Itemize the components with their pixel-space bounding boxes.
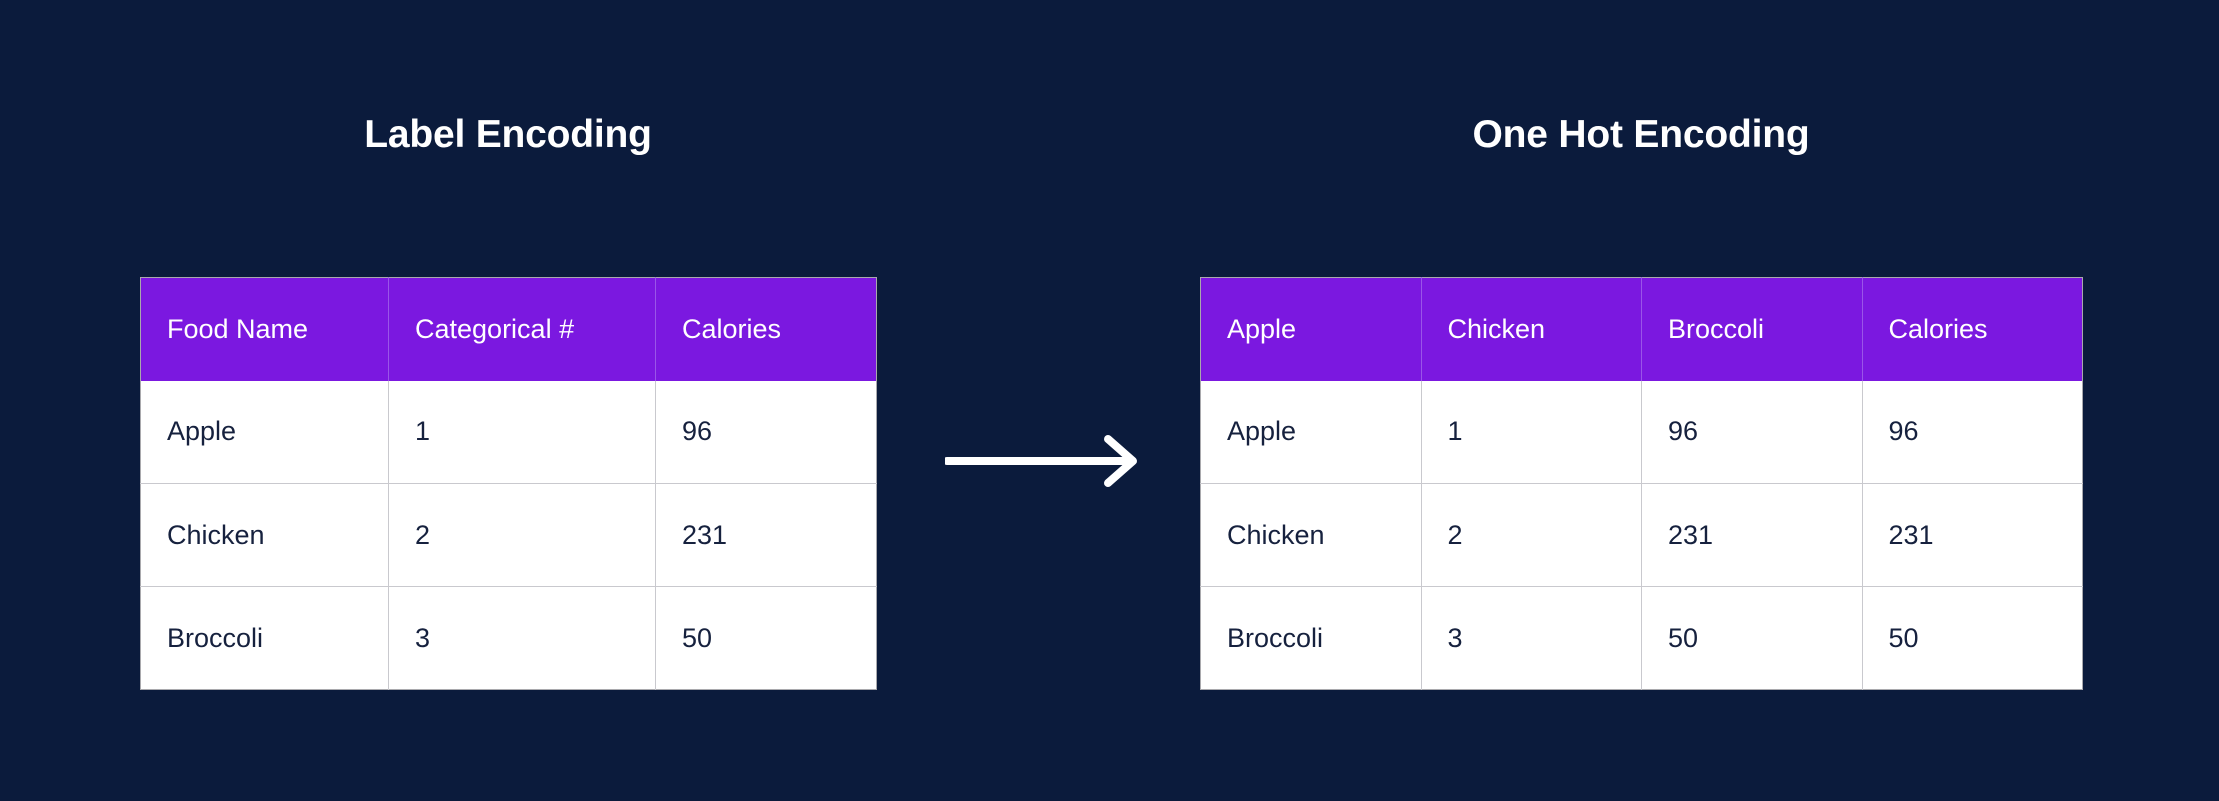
table-row: Apple 1 96	[141, 381, 877, 484]
cell-apple: Apple	[1201, 381, 1422, 484]
column-header-apple: Apple	[1201, 278, 1422, 381]
cell-broccoli: 96	[1642, 381, 1863, 484]
table-header-row: Food Name Categorical # Calories	[141, 278, 877, 381]
column-header-categorical-number: Categorical #	[389, 278, 656, 381]
cell-broccoli: 50	[1642, 587, 1863, 690]
column-header-calories: Calories	[1862, 278, 2083, 381]
cell-categorical-number: 1	[389, 381, 656, 484]
table-row: Broccoli 3 50	[141, 587, 877, 690]
cell-chicken: 3	[1421, 587, 1642, 690]
column-header-food-name: Food Name	[141, 278, 389, 381]
cell-apple: Chicken	[1201, 484, 1422, 587]
arrow-right-icon	[945, 432, 1145, 490]
table-row: Chicken 2 231 231	[1201, 484, 2083, 587]
one-hot-encoding-table: Apple Chicken Broccoli Calories Apple 1 …	[1200, 277, 2083, 690]
cell-calories: 96	[1862, 381, 2083, 484]
cell-calories: 231	[1862, 484, 2083, 587]
cell-calories: 50	[656, 587, 877, 690]
column-header-chicken: Chicken	[1421, 278, 1642, 381]
cell-categorical-number: 2	[389, 484, 656, 587]
table-row: Chicken 2 231	[141, 484, 877, 587]
cell-food-name: Broccoli	[141, 587, 389, 690]
cell-apple: Broccoli	[1201, 587, 1422, 690]
cell-categorical-number: 3	[389, 587, 656, 690]
table-row: Apple 1 96 96	[1201, 381, 2083, 484]
cell-calories: 96	[656, 381, 877, 484]
left-panel-title: Label Encoding	[140, 113, 876, 157]
cell-food-name: Chicken	[141, 484, 389, 587]
table-row: Broccoli 3 50 50	[1201, 587, 2083, 690]
label-encoding-table: Food Name Categorical # Calories Apple 1…	[140, 277, 877, 690]
right-panel-title: One Hot Encoding	[1200, 113, 2082, 157]
cell-calories: 231	[656, 484, 877, 587]
table-header-row: Apple Chicken Broccoli Calories	[1201, 278, 2083, 381]
cell-chicken: 1	[1421, 381, 1642, 484]
cell-food-name: Apple	[141, 381, 389, 484]
column-header-calories: Calories	[656, 278, 877, 381]
cell-broccoli: 231	[1642, 484, 1863, 587]
diagram-canvas: Label Encoding Food Name Categorical # C…	[0, 0, 2219, 801]
cell-chicken: 2	[1421, 484, 1642, 587]
column-header-broccoli: Broccoli	[1642, 278, 1863, 381]
cell-calories: 50	[1862, 587, 2083, 690]
